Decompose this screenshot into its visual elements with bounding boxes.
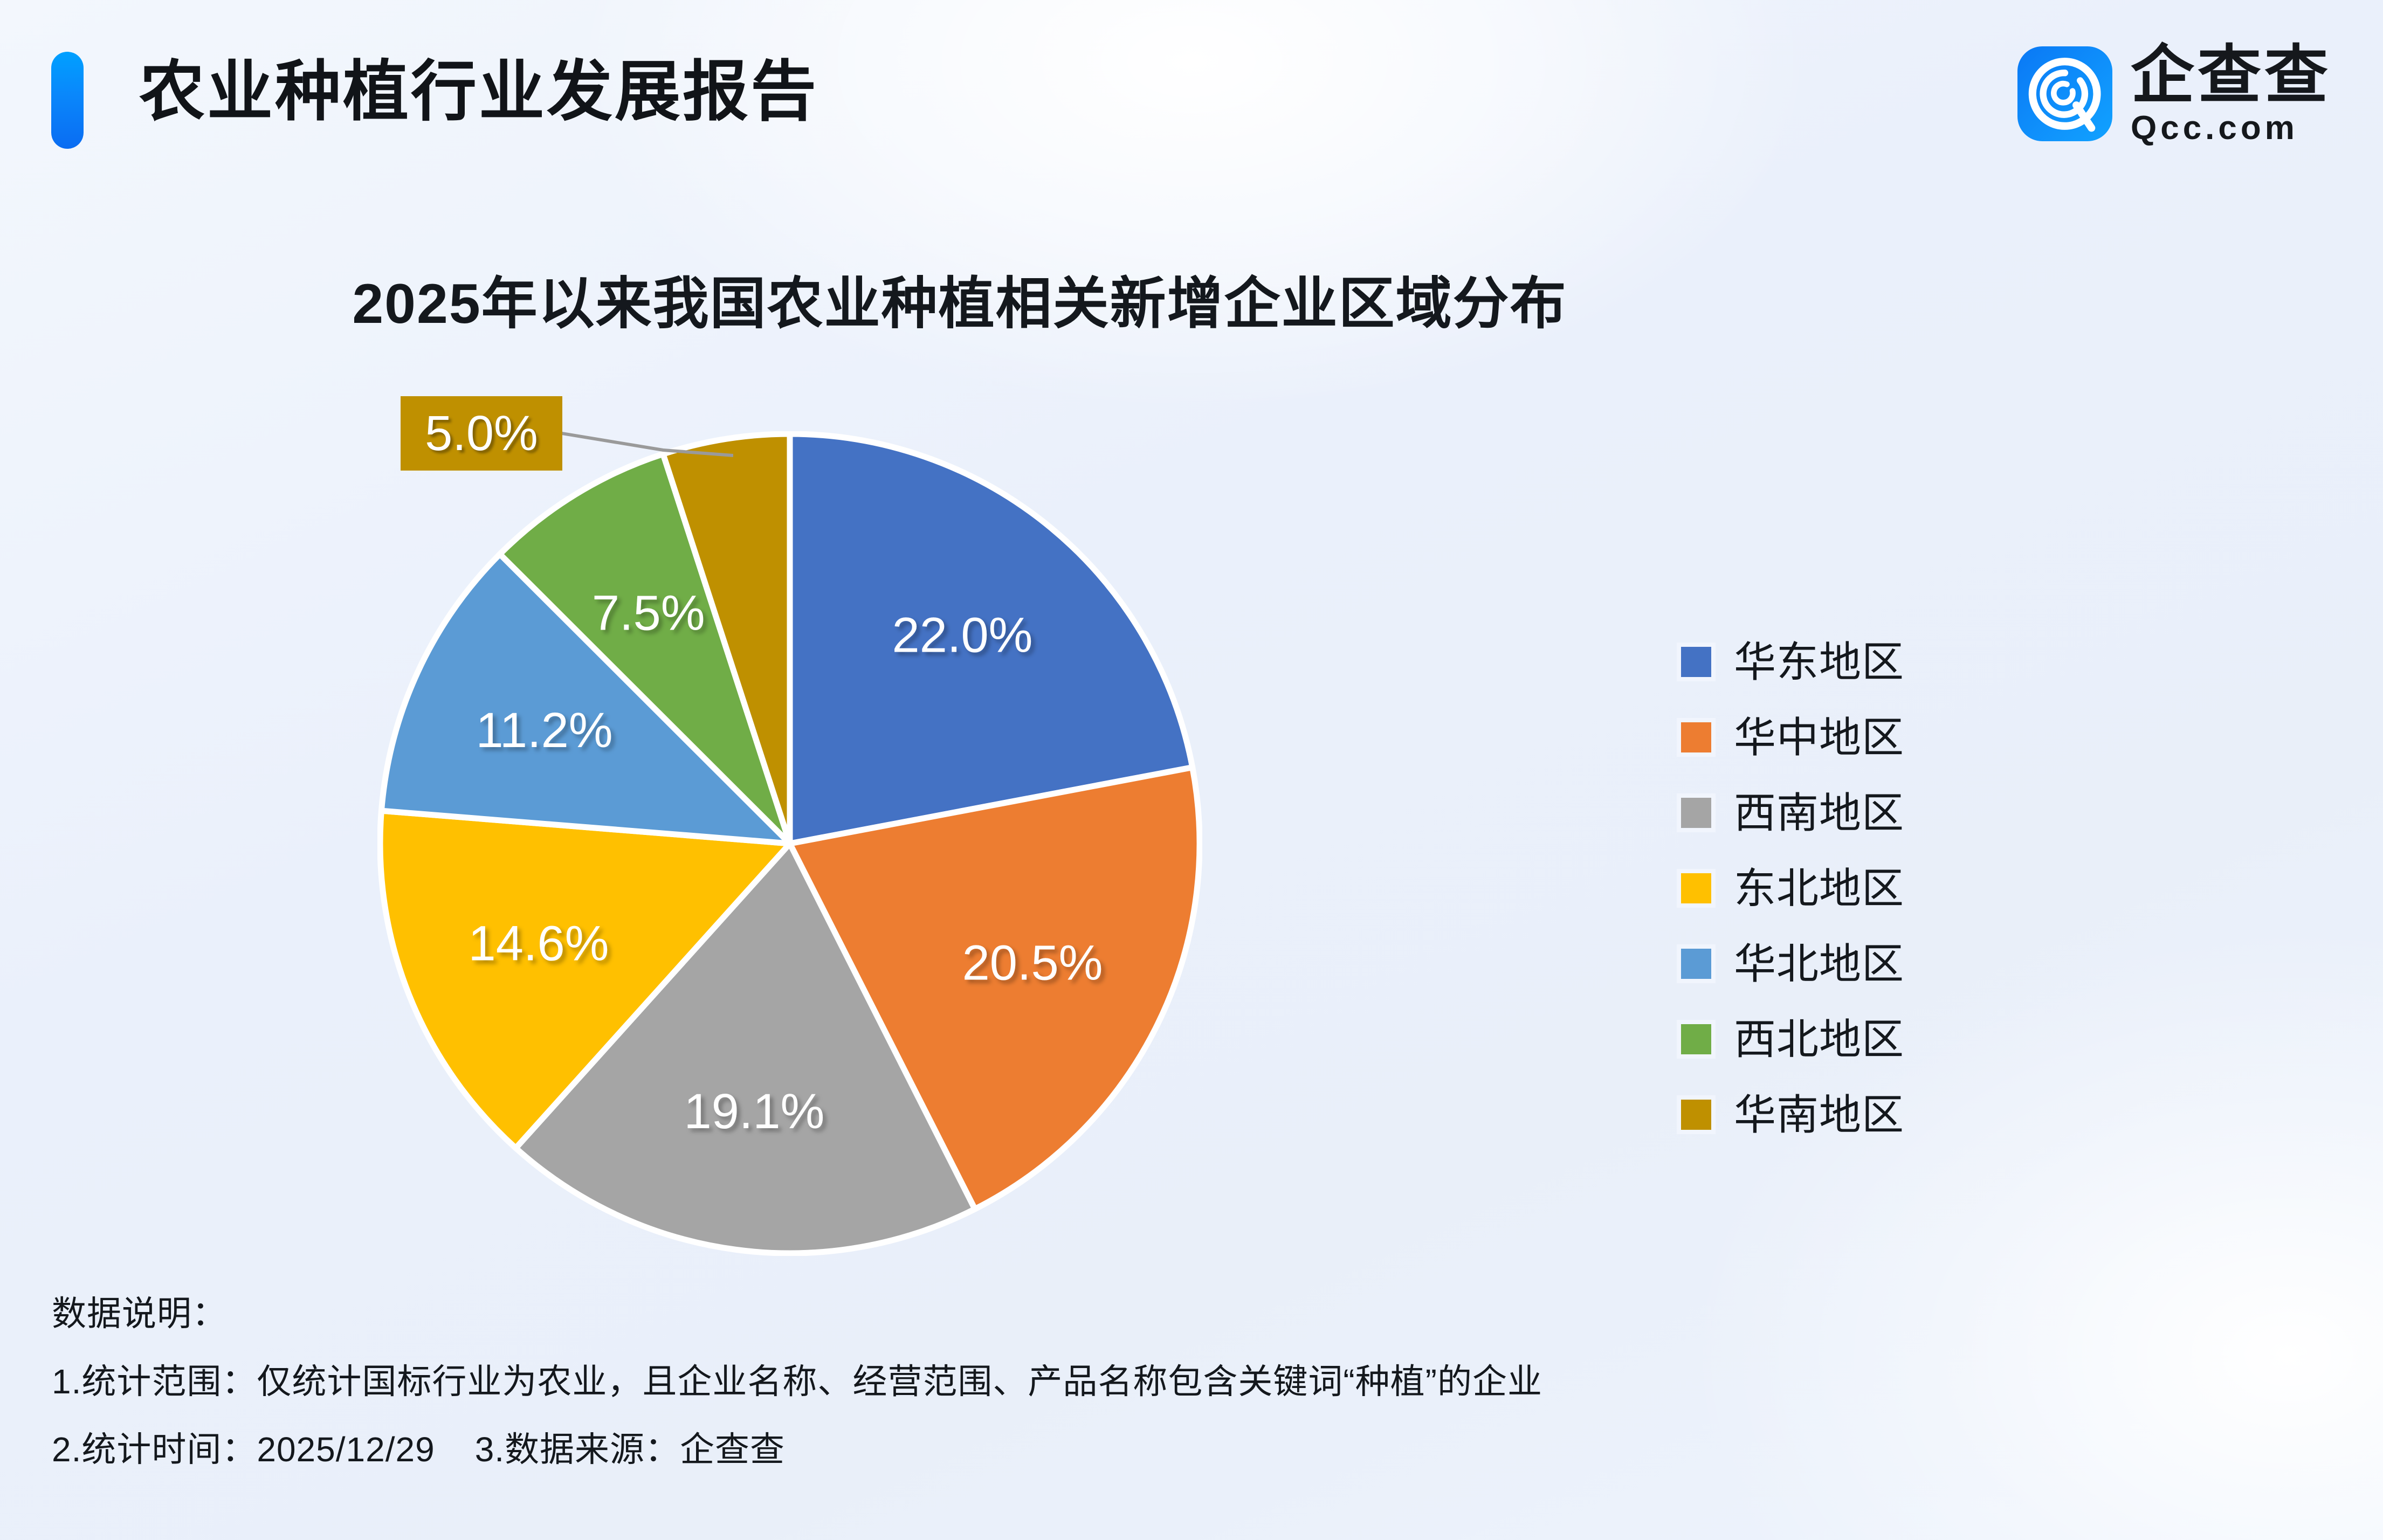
logo-wordmark: 企查查 Qcc.com xyxy=(2131,42,2331,146)
pie-chart-svg: 22.0%20.5%19.1%14.6%11.2%7.5% xyxy=(377,431,1202,1256)
pie-slice-label: 20.5% xyxy=(962,936,1103,991)
legend-item[interactable]: 华南地区 xyxy=(1681,1077,1904,1152)
pie-slice-label: 11.2% xyxy=(476,703,613,758)
notes-heading: 数据说明： xyxy=(52,1296,2262,1331)
legend-item[interactable]: 华东地区 xyxy=(1681,624,1904,700)
note-time: 2.统计时间：2025/12/29 xyxy=(52,1430,435,1469)
legend-label: 华南地区 xyxy=(1734,1094,1904,1136)
legend-swatch-icon xyxy=(1681,647,1711,677)
logo-cn-text: 企查查 xyxy=(2131,42,2331,109)
legend-item[interactable]: 华北地区 xyxy=(1681,926,1904,1002)
page-title: 农业种植行业发展报告 xyxy=(139,47,818,136)
note-line-2: 2.统计时间：2025/12/293.数据来源：企查查 xyxy=(52,1432,2262,1467)
report-page: 农业种植行业发展报告 企查查 Qcc.com 2025年以来我国农业种植相关新增… xyxy=(0,0,2383,1540)
legend-swatch-icon xyxy=(1681,1100,1711,1130)
note-source: 3.数据来源：企查查 xyxy=(475,1430,785,1469)
legend-swatch-icon xyxy=(1681,798,1711,828)
pie-slice-label: 7.5% xyxy=(592,585,705,640)
legend-swatch-icon xyxy=(1681,949,1711,979)
pie-slice-label: 14.6% xyxy=(469,916,609,971)
legend-swatch-icon xyxy=(1681,1024,1711,1054)
legend-item[interactable]: 华中地区 xyxy=(1681,700,1904,775)
legend-label: 西北地区 xyxy=(1734,1018,1904,1060)
chart-title: 2025年以来我国农业种植相关新增企业区域分布 xyxy=(0,258,1919,339)
legend-item[interactable]: 西南地区 xyxy=(1681,775,1904,851)
legend-label: 华中地区 xyxy=(1734,716,1904,758)
pie-chart: 22.0%20.5%19.1%14.6%11.2%7.5% xyxy=(377,431,1202,1256)
note-line-1: 1.统计范围：仅统计国标行业为农业，且企业名称、经营范围、产品名称包含关键词“种… xyxy=(52,1364,2262,1399)
callout-box-huanan: 5.0% xyxy=(401,396,562,471)
logo-en-text: Qcc.com xyxy=(2131,111,2298,146)
legend-label: 东北地区 xyxy=(1734,867,1904,909)
legend-label: 华东地区 xyxy=(1734,641,1904,683)
legend-label: 华北地区 xyxy=(1734,943,1904,985)
qcc-logo-icon xyxy=(2017,46,2112,141)
brand-logo: 企查查 Qcc.com xyxy=(2017,42,2331,146)
pie-slice-label: 22.0% xyxy=(892,608,1033,663)
legend-swatch-icon xyxy=(1681,873,1711,903)
legend-label: 西南地区 xyxy=(1734,792,1904,834)
accent-bar-icon xyxy=(51,52,84,149)
legend-swatch-icon xyxy=(1681,722,1711,752)
chart-legend: 华东地区华中地区西南地区东北地区华北地区西北地区华南地区 xyxy=(1681,624,1904,1152)
callout-label: 5.0% xyxy=(425,409,538,458)
legend-item[interactable]: 东北地区 xyxy=(1681,851,1904,926)
legend-item[interactable]: 西北地区 xyxy=(1681,1002,1904,1077)
data-notes: 数据说明： 1.统计范围：仅统计国标行业为农业，且企业名称、经营范围、产品名称包… xyxy=(52,1296,2262,1500)
pie-slice-label: 19.1% xyxy=(684,1084,825,1139)
